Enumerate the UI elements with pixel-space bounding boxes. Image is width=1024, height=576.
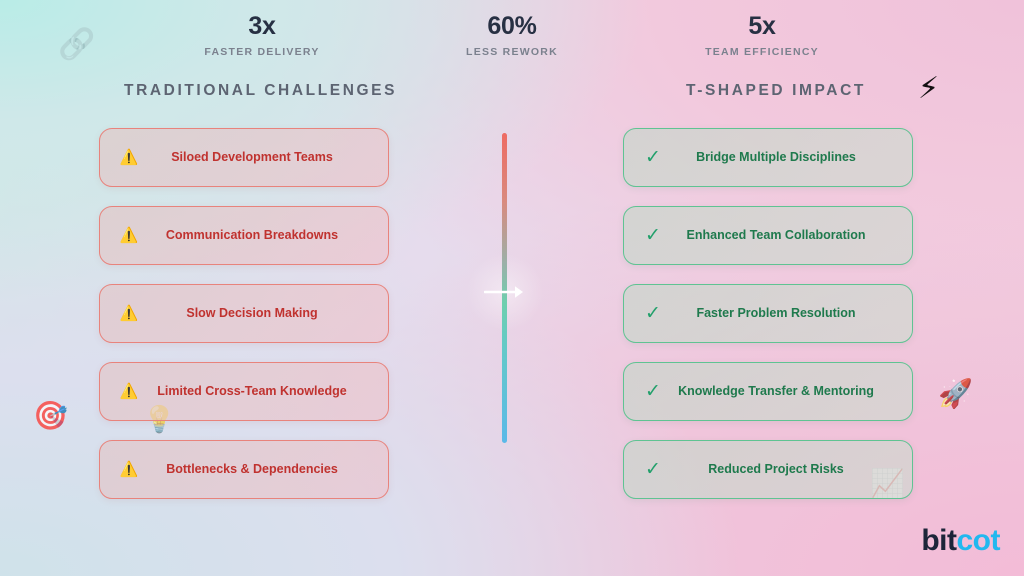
impact-card[interactable]: ✓ Bridge Multiple Disciplines xyxy=(623,128,913,187)
stat-item: 60% LESS REWORK xyxy=(422,12,602,58)
logo-text-cot: cot xyxy=(957,524,1001,557)
impact-card[interactable]: ✓ Faster Problem Resolution xyxy=(623,284,913,343)
check-icon: ✓ xyxy=(638,304,668,323)
impact-card[interactable]: ✓ Reduced Project Risks xyxy=(623,440,913,499)
stat-item: 3x FASTER DELIVERY xyxy=(172,12,352,58)
challenge-card[interactable]: ⚠️ Communication Breakdowns xyxy=(99,206,389,265)
check-icon: ✓ xyxy=(638,460,668,479)
challenge-card[interactable]: ⚠️ Slow Decision Making xyxy=(99,284,389,343)
challenge-label: Communication Breakdowns xyxy=(144,227,374,244)
t-shaped-impact-list: ✓ Bridge Multiple Disciplines ✓ Enhanced… xyxy=(623,128,913,499)
logo-text-bit: bit xyxy=(921,524,956,557)
stat-value: 5x xyxy=(748,12,775,41)
challenge-label: Siloed Development Teams xyxy=(144,149,374,166)
check-icon: ✓ xyxy=(638,226,668,245)
impact-label: Knowledge Transfer & Mentoring xyxy=(668,383,898,400)
stat-value: 3x xyxy=(248,12,275,41)
challenge-label: Bottlenecks & Dependencies xyxy=(144,461,374,478)
challenge-label: Limited Cross-Team Knowledge xyxy=(144,383,374,400)
stats-row: 3x FASTER DELIVERY 60% LESS REWORK 5x TE… xyxy=(0,12,1024,58)
right-column-title: T-SHAPED IMPACT xyxy=(686,82,866,100)
stat-label: LESS REWORK xyxy=(466,46,558,58)
impact-label: Enhanced Team Collaboration xyxy=(668,227,898,244)
challenge-card[interactable]: ⚠️ Bottlenecks & Dependencies xyxy=(99,440,389,499)
warning-icon: ⚠️ xyxy=(114,306,144,321)
warning-icon: ⚠️ xyxy=(114,462,144,477)
impact-label: Reduced Project Risks xyxy=(668,461,898,478)
left-column-title: TRADITIONAL CHALLENGES xyxy=(124,82,397,100)
check-icon: ✓ xyxy=(638,382,668,401)
impact-card[interactable]: ✓ Knowledge Transfer & Mentoring xyxy=(623,362,913,421)
stat-label: FASTER DELIVERY xyxy=(204,46,319,58)
stat-value: 60% xyxy=(487,12,536,41)
challenge-card[interactable]: ⚠️ Limited Cross-Team Knowledge xyxy=(99,362,389,421)
challenge-label: Slow Decision Making xyxy=(144,305,374,322)
stat-label: TEAM EFFICIENCY xyxy=(705,46,819,58)
stat-item: 5x TEAM EFFICIENCY xyxy=(672,12,852,58)
warning-icon: ⚠️ xyxy=(114,150,144,165)
impact-label: Faster Problem Resolution xyxy=(668,305,898,322)
rocket-icon: 🚀 xyxy=(938,380,973,408)
traditional-challenges-list: ⚠️ Siloed Development Teams ⚠️ Communica… xyxy=(99,128,389,499)
target-icon: 🎯 xyxy=(33,402,68,430)
lightning-bolt-icon: ⚡ xyxy=(918,74,939,104)
arrow-right-icon xyxy=(484,284,524,300)
bitcot-logo: bitcot xyxy=(921,524,1000,558)
warning-icon: ⚠️ xyxy=(114,228,144,243)
impact-card[interactable]: ✓ Enhanced Team Collaboration xyxy=(623,206,913,265)
slide-canvas: 🔗 🎯 ⚡ 🚀 💡 📈 3x FASTER DELIVERY 60% LESS … xyxy=(0,0,1024,576)
challenge-card[interactable]: ⚠️ Siloed Development Teams xyxy=(99,128,389,187)
check-icon: ✓ xyxy=(638,148,668,167)
impact-label: Bridge Multiple Disciplines xyxy=(668,149,898,166)
warning-icon: ⚠️ xyxy=(114,384,144,399)
